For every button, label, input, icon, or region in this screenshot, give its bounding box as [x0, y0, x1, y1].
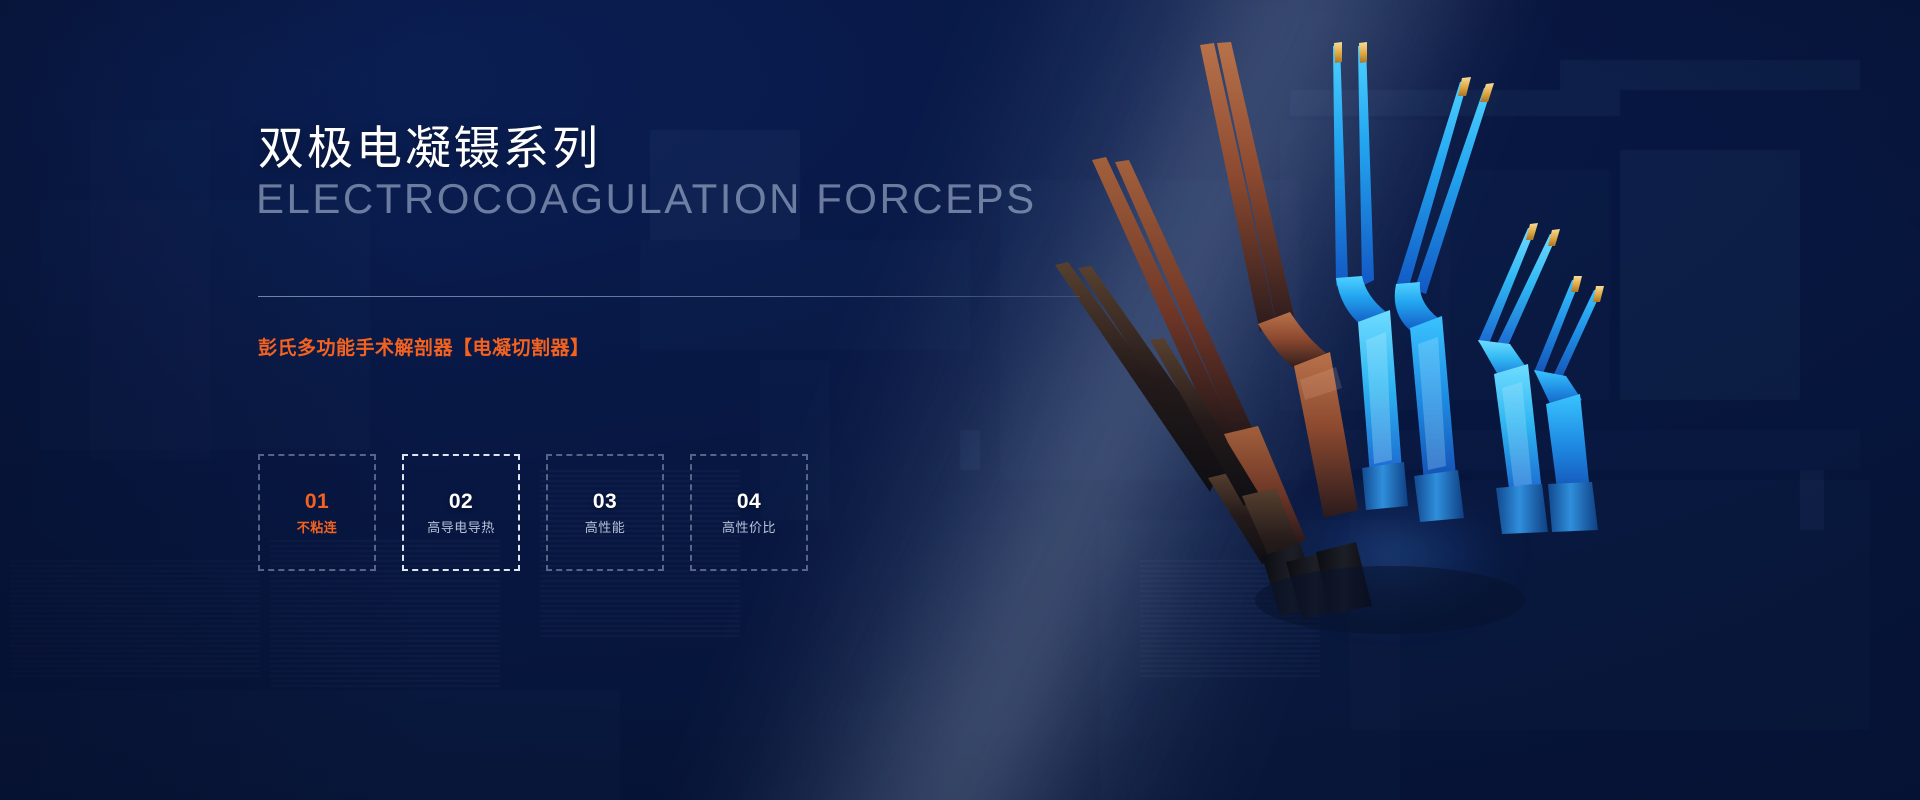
- forceps-hub: [1255, 462, 1598, 634]
- feature-number: 01: [305, 491, 329, 512]
- forceps-item-8: [1534, 276, 1604, 496]
- forceps-item-6: [1395, 77, 1494, 482]
- page-title: 双极电凝镊系列: [258, 112, 601, 178]
- feature-number: 03: [593, 491, 617, 512]
- forceps-item-5: [1333, 42, 1402, 476]
- forceps-product-image: [1090, 40, 1630, 610]
- feature-label: 高性价比: [722, 521, 776, 534]
- title-divider: [258, 296, 1080, 297]
- feature-card-04[interactable]: 04 高性价比: [690, 454, 808, 571]
- banner-content: 双极电凝镊系列 ELECTROCOAGULATION FORCEPS 彭氏多功能…: [258, 0, 1118, 800]
- feature-label: 高性能: [585, 521, 626, 534]
- feature-card-02[interactable]: 02 高导电导热: [402, 454, 520, 571]
- feature-list: 01 不粘连 02 高导电导热 03 高性能 04 高性价比: [258, 454, 808, 571]
- feature-number: 02: [449, 491, 473, 512]
- feature-label: 高导电导热: [427, 521, 495, 534]
- feature-card-03[interactable]: 03 高性能: [546, 454, 664, 571]
- feature-label: 不粘连: [297, 521, 338, 534]
- feature-card-01[interactable]: 01 不粘连: [258, 454, 376, 571]
- product-banner: 双极电凝镊系列 ELECTROCOAGULATION FORCEPS 彭氏多功能…: [0, 0, 1920, 800]
- feature-number: 04: [737, 491, 761, 512]
- page-subtitle-english: ELECTROCOAGULATION FORCEPS: [256, 175, 1037, 223]
- product-description: 彭氏多功能手术解剖器【电凝切割器】: [258, 333, 590, 360]
